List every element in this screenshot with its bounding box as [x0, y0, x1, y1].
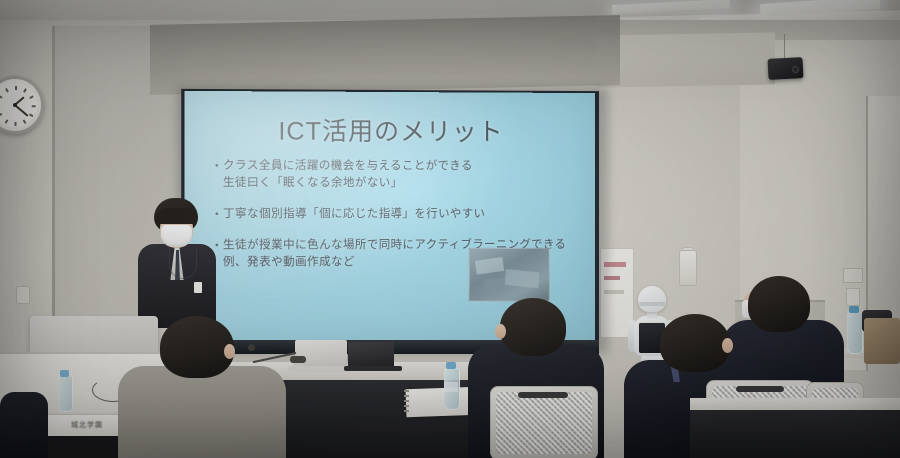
attendee-masked-right-head [748, 276, 810, 332]
apple-logo-icon [86, 332, 101, 350]
slide-title: ICT活用のメリット [184, 111, 595, 149]
beam-soffit [595, 32, 775, 87]
attendee-grey-sweater-body [118, 366, 286, 458]
clock-face [0, 83, 37, 127]
robot-head [638, 286, 666, 312]
bottle-cap [446, 362, 456, 369]
list-item: ・ 丁寧な個別指導「個に応じた指導」を行いやすい [211, 206, 582, 223]
chair-handle[interactable] [736, 386, 784, 392]
chair-mesh-back [496, 392, 592, 454]
presenter-badge [194, 282, 202, 293]
water-bottle-icon[interactable] [847, 312, 863, 354]
tote-bag[interactable] [864, 318, 900, 364]
wall-shadow-band [150, 15, 620, 95]
light-switch-icon[interactable] [843, 268, 863, 283]
presenter-fringe [155, 208, 197, 224]
power-outlet-icon[interactable] [16, 286, 30, 304]
bottle-cap [849, 306, 859, 313]
dark-laptop[interactable] [348, 342, 394, 368]
silver-laptop[interactable] [295, 340, 347, 368]
sensor-icon [792, 66, 799, 73]
microphone-icon[interactable] [248, 344, 255, 351]
list-item: ・ クラス全員に活躍の機会を与えることができる 生徒曰く「眠くなる余地がない」 [211, 158, 582, 193]
light-switch-icon[interactable] [846, 288, 860, 306]
attendee-ear [224, 344, 235, 359]
notebook-spiral [404, 390, 409, 414]
bullet-marker-icon: ・ [211, 158, 223, 192]
attendee-grey-sweater-head [160, 316, 234, 378]
presentation-room-photo: ICT活用のメリット ・ クラス全員に活躍の機会を与えることができる 生徒曰く「… [0, 0, 900, 458]
slide-embedded-photo [469, 248, 550, 302]
right-table-front-face [690, 410, 900, 458]
dark-laptop-base [344, 366, 402, 371]
attendee-dark-suit-head [660, 314, 730, 372]
clock-center-pin [13, 103, 17, 107]
bullet-line: クラス全員に活躍の機会を与えることができる [223, 158, 581, 176]
bottle-label [444, 382, 458, 392]
wall-edge [52, 26, 55, 326]
bullet-line: 生徒曰く「眠くなる余地がない」 [223, 175, 581, 193]
water-bottle-icon[interactable] [58, 376, 73, 412]
attendee-navy-suit-head [500, 298, 566, 356]
placard-label: 城北学園 [46, 420, 128, 430]
chair-handle[interactable] [518, 392, 568, 398]
speaker-wire [784, 34, 785, 60]
bullet-line: 丁寧な個別指導「個に応じた指導」を行いやすい [223, 206, 581, 223]
attendee-ear [722, 338, 733, 353]
presenter [136, 198, 218, 328]
attendee-ear [495, 324, 506, 339]
microphone-base [290, 356, 306, 363]
presenter-lanyard [169, 248, 197, 279]
face-mask-icon [161, 225, 192, 247]
bottle-cap [60, 370, 69, 377]
wall-phone-icon[interactable] [679, 250, 697, 286]
robot-visor-icon [639, 302, 665, 306]
attendee-edge-left [0, 392, 48, 458]
